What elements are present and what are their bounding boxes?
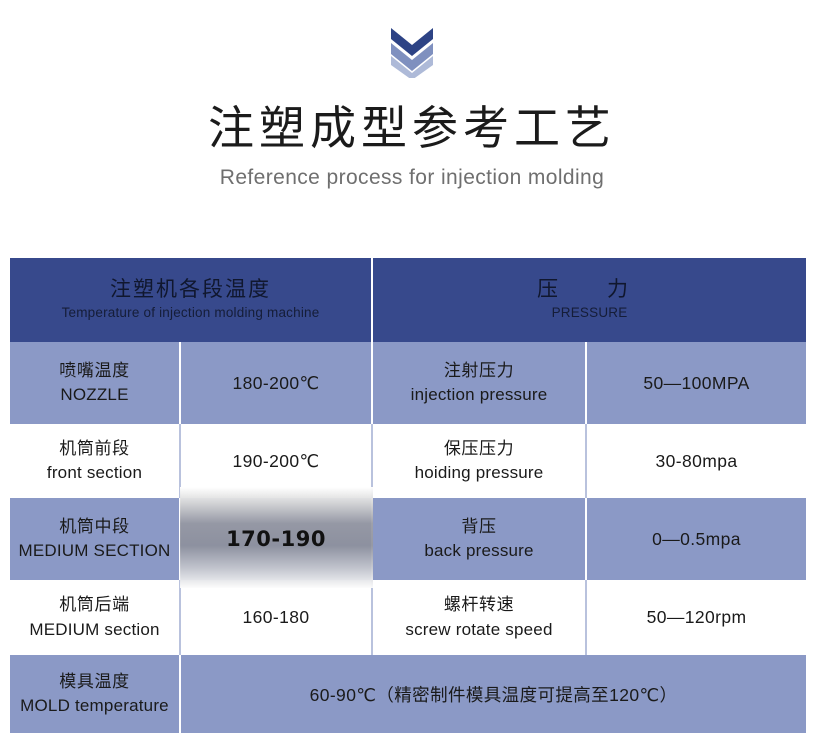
row-nozzle-value-text: 180-200℃: [181, 373, 371, 394]
row-nozzle-pressure-value-text: 50—100MPA: [587, 373, 806, 394]
row-medium-value-highlighted[interactable]: 170-190: [180, 498, 372, 580]
page-subtitle: Reference process for injection molding: [0, 166, 824, 190]
row-nozzle-value: 180-200℃: [180, 342, 372, 424]
row-mold-value: 60-90℃（精密制件模具温度可提高至120℃）: [180, 655, 806, 733]
page-banner: 注塑成型参考工艺 Reference process for injection…: [0, 0, 824, 190]
row-front-pressure-value-text: 30-80mpa: [587, 451, 806, 472]
row-medium-pressure-en: back pressure: [373, 539, 585, 563]
row-medium-pressure-value: 0—0.5mpa: [586, 498, 806, 580]
row-medium-value-text: 170-190: [181, 527, 371, 551]
row-medium-pressure-cn: 背压: [373, 515, 585, 539]
row-rear-pressure-cn: 螺杆转速: [373, 593, 585, 617]
row-medium-param-en: MEDIUM SECTION: [10, 539, 179, 563]
row-front-param-cn: 机筒前段: [10, 437, 179, 461]
table-row: 机筒中段 MEDIUM SECTION 170-190 背压 back pres…: [10, 498, 806, 580]
header-pressure-cn: 压 力: [373, 277, 806, 303]
table-header-row: 注塑机各段温度 Temperature of injection molding…: [10, 258, 806, 342]
row-rear-pressure-label: 螺杆转速 screw rotate speed: [372, 580, 586, 655]
table-row: 模具温度 MOLD temperature 60-90℃（精密制件模具温度可提高…: [10, 655, 806, 733]
row-front-pressure-value: 30-80mpa: [586, 424, 806, 498]
row-medium-param-cn: 机筒中段: [10, 515, 179, 539]
triple-chevron-down-icon: [389, 26, 435, 78]
row-nozzle-param: 喷嘴温度 NOZZLE: [10, 342, 180, 424]
header-cell-temperature: 注塑机各段温度 Temperature of injection molding…: [10, 258, 372, 342]
row-mold-value-text: 60-90℃（精密制件模具温度可提高至120℃）: [181, 682, 806, 707]
row-front-pressure-label: 保压压力 hoiding pressure: [372, 424, 586, 498]
row-front-pressure-cn: 保压压力: [373, 437, 585, 461]
row-rear-param-cn: 机筒后端: [10, 593, 179, 617]
page-title: 注塑成型参考工艺: [0, 104, 824, 152]
row-nozzle-param-en: NOZZLE: [10, 383, 179, 407]
row-rear-param: 机筒后端 MEDIUM section: [10, 580, 180, 655]
injection-molding-spec-table: 注塑机各段温度 Temperature of injection molding…: [10, 258, 806, 733]
row-nozzle-pressure-value: 50—100MPA: [586, 342, 806, 424]
row-rear-pressure-value: 50—120rpm: [586, 580, 806, 655]
row-medium-pressure-value-text: 0—0.5mpa: [587, 529, 806, 550]
table-row: 机筒前段 front section 190-200℃ 保压压力 hoiding…: [10, 424, 806, 498]
row-front-value-text: 190-200℃: [181, 451, 371, 472]
row-front-value: 190-200℃: [180, 424, 372, 498]
row-rear-param-en: MEDIUM section: [10, 618, 179, 642]
row-nozzle-pressure-label: 注射压力 injection pressure: [372, 342, 586, 424]
table-row: 机筒后端 MEDIUM section 160-180 螺杆转速 screw r…: [10, 580, 806, 655]
row-medium-param: 机筒中段 MEDIUM SECTION: [10, 498, 180, 580]
row-mold-param-cn: 模具温度: [10, 670, 179, 694]
row-nozzle-param-cn: 喷嘴温度: [10, 359, 179, 383]
row-rear-pressure-en: screw rotate speed: [373, 618, 585, 642]
header-temperature-en: Temperature of injection molding machine: [10, 303, 371, 323]
row-rear-value: 160-180: [180, 580, 372, 655]
row-front-param: 机筒前段 front section: [10, 424, 180, 498]
row-nozzle-pressure-en: injection pressure: [373, 383, 585, 407]
row-nozzle-pressure-cn: 注射压力: [373, 359, 585, 383]
table-row: 喷嘴温度 NOZZLE 180-200℃ 注射压力 injection pres…: [10, 342, 806, 424]
header-cell-pressure: 压 力 PRESSURE: [372, 258, 806, 342]
row-front-pressure-en: hoiding pressure: [373, 461, 585, 485]
row-rear-value-text: 160-180: [181, 607, 371, 628]
row-front-param-en: front section: [10, 461, 179, 485]
header-temperature-cn: 注塑机各段温度: [10, 277, 371, 303]
row-medium-pressure-label: 背压 back pressure: [372, 498, 586, 580]
row-mold-param-en: MOLD temperature: [10, 694, 179, 718]
header-pressure-en: PRESSURE: [373, 303, 806, 323]
row-rear-pressure-value-text: 50—120rpm: [587, 607, 806, 628]
row-mold-param: 模具温度 MOLD temperature: [10, 655, 180, 733]
